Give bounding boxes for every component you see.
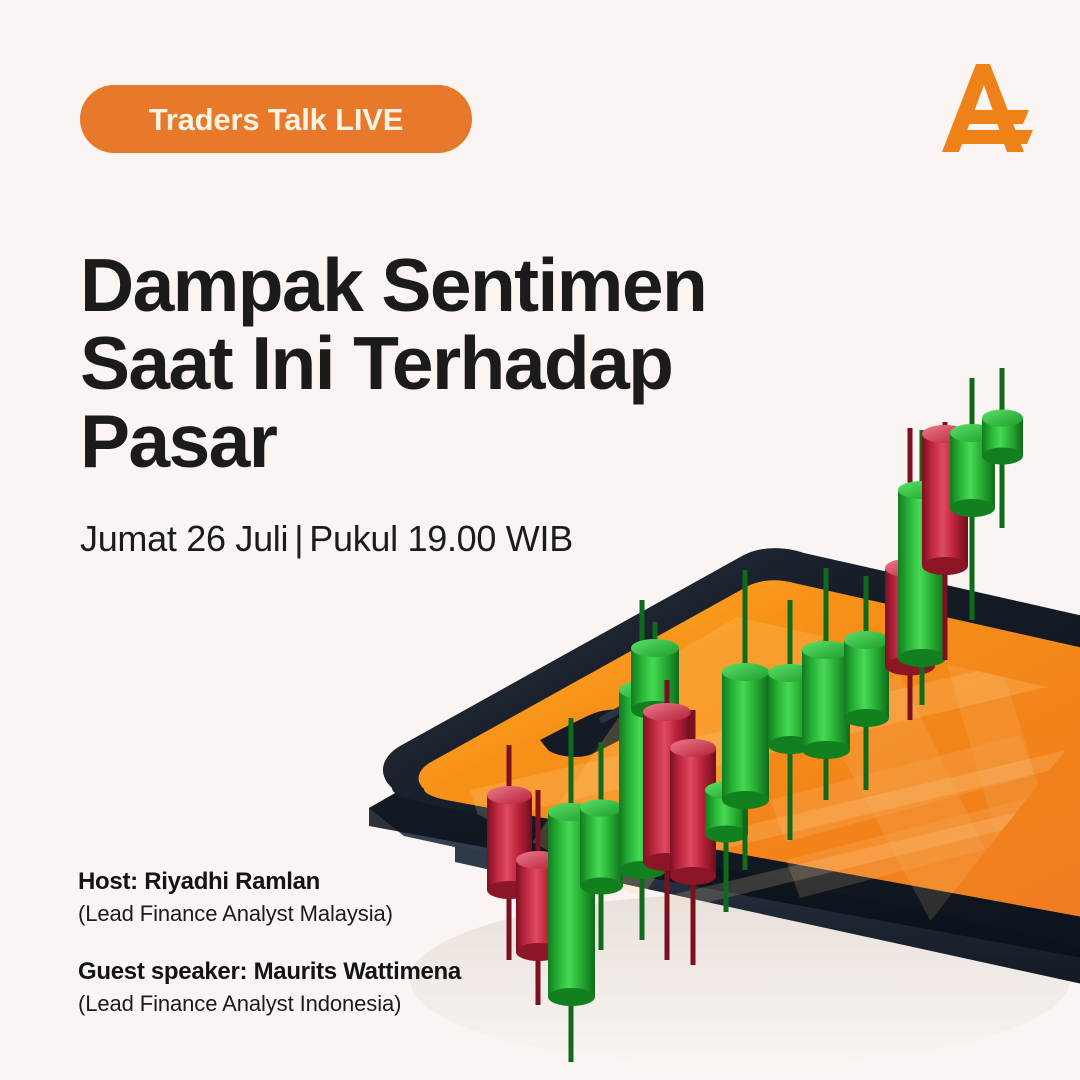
host-role: (Lead Finance Analyst Malaysia) [78, 899, 598, 930]
guest-name: Guest speaker: Maurits Wattimena [78, 956, 598, 987]
event-date: Jumat 26 Juli [80, 518, 288, 559]
brand-a-logo [932, 58, 1038, 158]
event-time: Pukul 19.00 WIB [309, 518, 573, 559]
title-line-2: Saat Ini Terhadap [80, 324, 840, 402]
live-badge[interactable]: Traders Talk LIVE [80, 85, 472, 153]
speaker-list: Host: Riyadhi Ramlan (Lead Finance Analy… [78, 866, 598, 1020]
page-title: Dampak Sentimen Saat Ini Terhadap Pasar [80, 246, 840, 480]
poster-canvas: Traders Talk LIVE Dampak Sentimen Saat I… [0, 0, 1080, 1080]
title-line-3: Pasar [80, 402, 840, 480]
host-name: Host: Riyadhi Ramlan [78, 866, 598, 897]
title-line-1: Dampak Sentimen [80, 246, 840, 324]
live-badge-label: Traders Talk LIVE [149, 104, 403, 135]
poster-content: Traders Talk LIVE Dampak Sentimen Saat I… [0, 0, 1080, 1080]
host-block: Host: Riyadhi Ramlan (Lead Finance Analy… [78, 866, 598, 930]
guest-block: Guest speaker: Maurits Wattimena (Lead F… [78, 956, 598, 1020]
event-datetime: Jumat 26 Juli|Pukul 19.00 WIB [80, 518, 573, 560]
guest-role: (Lead Finance Analyst Indonesia) [78, 989, 598, 1020]
datetime-separator: | [288, 518, 309, 559]
